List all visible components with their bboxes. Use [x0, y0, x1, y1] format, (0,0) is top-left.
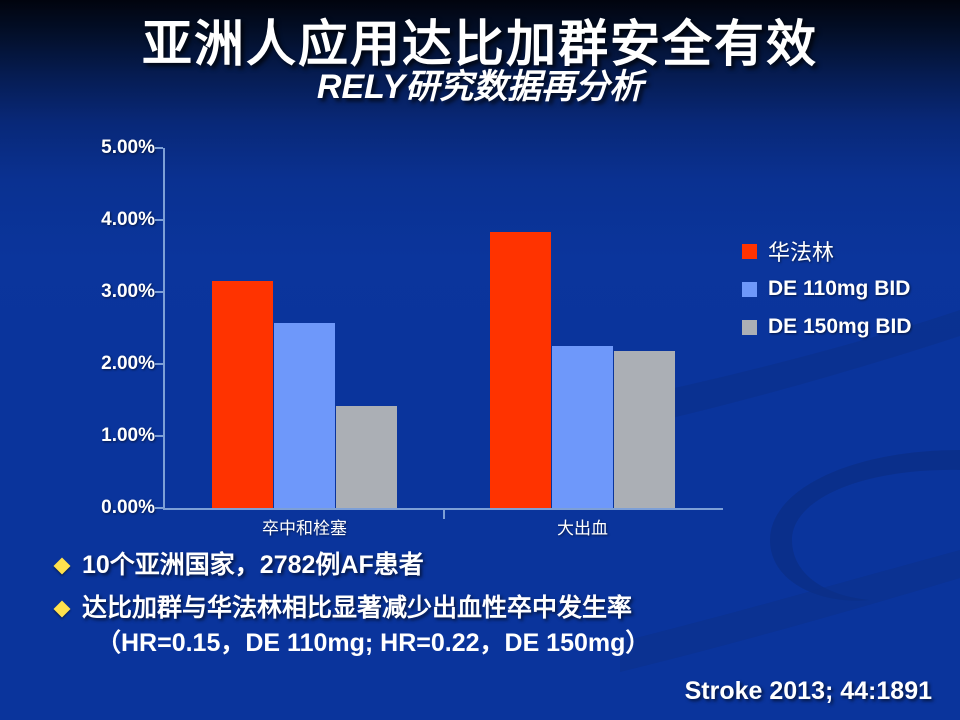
legend-swatch-icon — [742, 320, 757, 335]
legend-label: DE 110mg BID — [768, 277, 910, 301]
y-axis-tick-mark — [155, 147, 163, 149]
bullet-list: 10个亚洲国家，2782例AF患者达比加群与华法林相比显著减少出血性卒中发生率（… — [56, 550, 926, 671]
y-axis-tick-mark — [155, 363, 163, 365]
legend-item-3: DE 150mg BID — [742, 308, 912, 346]
bullet-item-2: 达比加群与华法林相比显著减少出血性卒中发生率（HR=0.15，DE 110mg;… — [56, 593, 926, 660]
legend-swatch-icon — [742, 282, 757, 297]
bar-2-2 — [552, 346, 613, 508]
slide-canvas: 亚洲人应用达比加群安全有效 RELY研究数据再分析 5.00%4.00%3.00… — [0, 0, 960, 720]
bullet-item-1: 10个亚洲国家，2782例AF患者 — [56, 550, 926, 581]
bullet-text: 达比加群与华法林相比显著减少出血性卒中发生率 — [82, 594, 632, 622]
diamond-bullet-icon — [54, 600, 71, 617]
legend-item-2: DE 110mg BID — [742, 270, 912, 308]
legend-label: 华法林 — [768, 235, 834, 267]
y-axis-tick-label: 0.00% — [101, 497, 155, 519]
y-axis-tick-label: 5.00% — [101, 137, 155, 159]
y-axis-tick-mark — [155, 219, 163, 221]
x-axis-tick-mid — [443, 510, 445, 519]
chart-legend: 华法林DE 110mg BIDDE 150mg BID — [742, 232, 912, 346]
bar-1-2 — [274, 323, 335, 508]
y-axis-tick-label: 4.00% — [101, 209, 155, 231]
y-axis-line — [163, 148, 165, 510]
y-axis-tick-label: 3.00% — [101, 281, 155, 303]
legend-label: DE 150mg BID — [768, 315, 912, 339]
legend-item-1: 华法林 — [742, 232, 912, 270]
bar-1-3 — [336, 406, 397, 508]
bullet-text: 10个亚洲国家，2782例AF患者 — [82, 551, 424, 579]
x-axis-label-2: 大出血 — [483, 514, 683, 539]
y-axis-tick-mark — [155, 291, 163, 293]
y-axis-tick-mark — [155, 507, 163, 509]
bar-1-1 — [212, 281, 273, 508]
bullet-subtext: （HR=0.15，DE 110mg; HR=0.22，DE 150mg） — [96, 623, 650, 659]
citation-text: Stroke 2013; 44:1891 — [685, 677, 932, 706]
bar-2-3 — [614, 351, 675, 508]
diamond-bullet-icon — [54, 558, 71, 575]
y-axis-tick-label: 2.00% — [101, 353, 155, 375]
y-axis-tick-mark — [155, 435, 163, 437]
bar-2-1 — [490, 232, 551, 508]
legend-swatch-icon — [742, 244, 757, 259]
y-axis-tick-label: 1.00% — [101, 425, 155, 447]
x-axis-label-1: 卒中和栓塞 — [205, 514, 405, 539]
